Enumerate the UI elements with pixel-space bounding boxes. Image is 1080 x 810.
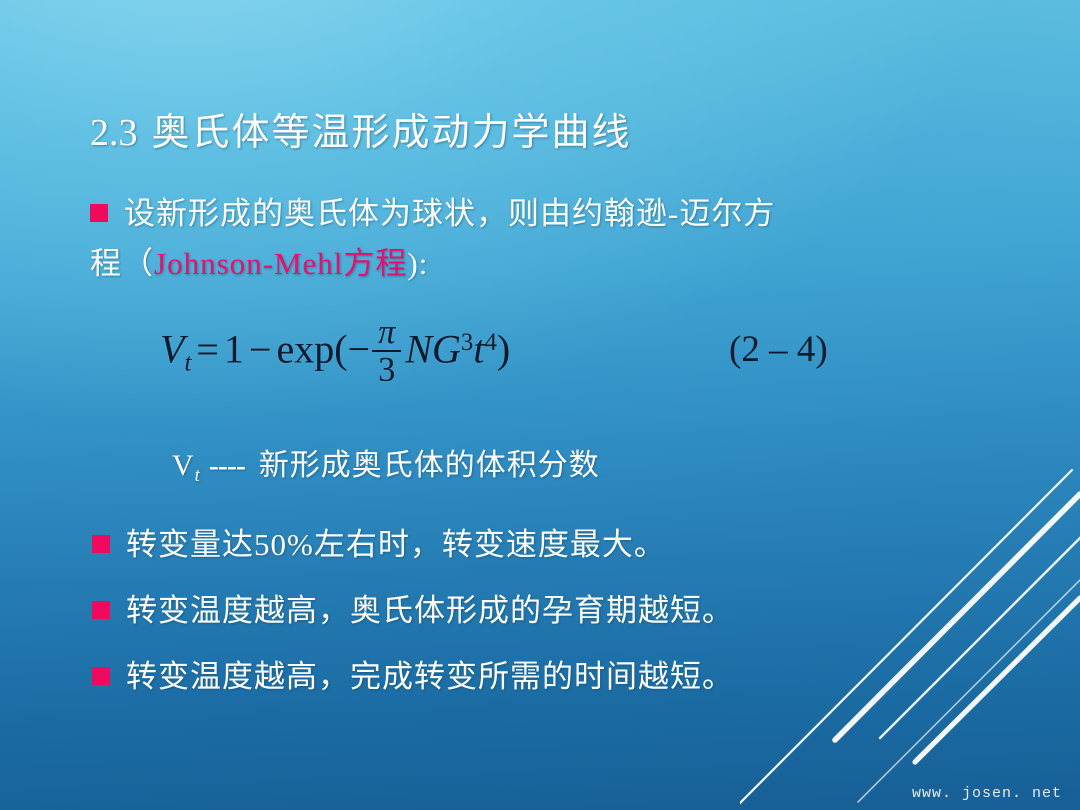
- diagonal-streak-decoration: [740, 410, 1080, 810]
- list-item: 转变温度越高，奥氏体形成的孕育期越短。: [92, 594, 734, 628]
- slide-title-number: 2.3: [90, 112, 152, 154]
- intro-line-2-prefix: 程（: [90, 246, 154, 281]
- formula-legend: Vt----新形成奥氏体的体积分数: [172, 440, 600, 487]
- formula-t-symbol: t: [473, 327, 484, 372]
- list-item: 转变温度越高，完成转变所需的时间越短。: [92, 660, 734, 694]
- intro-paragraph: 设新形成的奥氏体为球状，则由约翰逊-迈尔方 程（Johnson-Mehl方程):: [90, 190, 920, 288]
- legend-var-subscript: t: [195, 465, 201, 486]
- list-item: 转变量达50%左右时，转变速度最大。: [92, 528, 734, 562]
- streak-line-1: [740, 470, 1072, 808]
- square-bullet-icon: [92, 667, 110, 685]
- johnson-mehl-highlight: Johnson-Mehl方程: [154, 246, 407, 281]
- formula-one: 1: [224, 327, 244, 372]
- formula-g-exponent: 3: [461, 329, 473, 356]
- streak-line-2: [835, 494, 1080, 740]
- formula-t-exponent: 4: [484, 329, 496, 356]
- formula-exp: exp(: [276, 327, 347, 372]
- square-bullet-icon: [90, 204, 108, 222]
- formula-fraction-numerator: π: [372, 314, 401, 350]
- formula-minus: −: [244, 327, 277, 372]
- formula-fraction-pi-over-three: π3: [372, 314, 401, 389]
- square-bullet-icon: [92, 535, 110, 553]
- intro-line-2: 程（Johnson-Mehl方程):: [90, 240, 920, 288]
- presentation-slide: 2.3奥氏体等温形成动力学曲线 设新形成的奥氏体为球状，则由约翰逊-迈尔方 程（…: [0, 0, 1080, 810]
- formula-n-symbol: N: [405, 327, 432, 372]
- bullet-text: 转变温度越高，完成转变所需的时间越短。: [126, 659, 734, 694]
- formula-lhs-var: V: [160, 327, 184, 372]
- streak-line-5: [858, 580, 1080, 802]
- watermark: www. josen. net: [912, 785, 1062, 802]
- bullet-text: 转变温度越高，奥氏体形成的孕育期越短。: [126, 593, 734, 628]
- conclusion-bullet-list: 转变量达50%左右时，转变速度最大。 转变温度越高，奥氏体形成的孕育期越短。 转…: [92, 528, 734, 726]
- intro-line-1: 设新形成的奥氏体为球状，则由约翰逊-迈尔方: [124, 196, 775, 231]
- formula-equals: =: [191, 327, 224, 372]
- legend-var: V: [172, 449, 195, 482]
- bullet-text: 转变量达50%左右时，转变速度最大。: [126, 527, 666, 562]
- formula-close-paren: ): [497, 327, 510, 372]
- johnson-mehl-formula: Vt=1−exp(−π3NG3t4): [160, 316, 510, 391]
- equation-number: (2 – 4): [729, 328, 828, 371]
- slide-title: 2.3奥氏体等温形成动力学曲线: [90, 101, 632, 156]
- streak-lines-svg: [740, 410, 1080, 810]
- streak-line-3: [880, 536, 1080, 738]
- formula-g-symbol: G: [432, 327, 461, 372]
- slide-title-text: 奥氏体等温形成动力学曲线: [152, 112, 632, 154]
- streak-line-4: [915, 598, 1080, 762]
- intro-line-2-suffix: ):: [407, 246, 428, 281]
- legend-description: 新形成奥氏体的体积分数: [259, 449, 600, 482]
- formula-negative: −: [348, 327, 371, 372]
- legend-dashes: ----: [201, 449, 259, 482]
- square-bullet-icon: [92, 601, 110, 619]
- formula-fraction-denominator: 3: [372, 350, 401, 388]
